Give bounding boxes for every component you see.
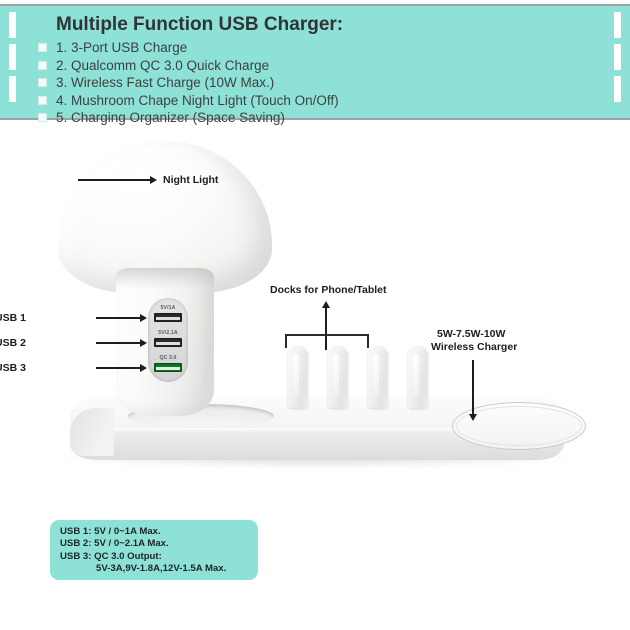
feature-item: 1. 3-Port USB Charge (38, 39, 598, 57)
dock-fin (408, 346, 428, 408)
usb2-arrowhead (140, 339, 147, 347)
checkbox-icon (38, 43, 47, 52)
night-light-arrowhead (150, 176, 157, 184)
spec-line-usb3-detail: 5V-3A,9V-1.8A,12V-1.5A Max. (60, 563, 258, 575)
checkbox-icon (38, 78, 47, 87)
spec-line-usb1: USB 1: 5V / 0~1A Max. (60, 526, 258, 538)
feature-label: 2. Qualcomm QC 3.0 Quick Charge (56, 58, 269, 73)
usb2-port (154, 338, 182, 347)
usb3-port-qc (154, 363, 182, 372)
usb2-leader-line (96, 342, 140, 344)
dock-fin (288, 346, 308, 408)
usb2-port-label: 5V/2.1A (148, 330, 188, 336)
wireless-charger-label-line1: 5W-7.5W-10W (437, 328, 505, 341)
mushroom-stem-shadow (116, 268, 214, 290)
docks-bracket (285, 334, 369, 348)
wireless-charger-leader-line (472, 360, 474, 416)
checkbox-icon (38, 96, 47, 105)
banner-tear-right (614, 6, 621, 118)
night-light-leader-line (78, 179, 150, 181)
checkbox-icon (38, 61, 47, 70)
banner-title: Multiple Function USB Charger: (56, 14, 343, 36)
spec-line-usb3: USB 3: QC 3.0 Output: (60, 551, 258, 563)
feature-label: 4. Mushroom Chape Night Light (Touch On/… (56, 93, 339, 108)
night-light-label: Night Light (163, 174, 218, 187)
feature-label: 3. Wireless Fast Charge (10W Max.) (56, 75, 274, 90)
feature-label: 1. 3-Port USB Charge (56, 40, 187, 55)
usb1-label: USB 1 (0, 312, 26, 325)
feature-banner: Multiple Function USB Charger: 1. 3-Port… (0, 4, 630, 120)
usb3-label: USB 3 (0, 362, 26, 375)
feature-item: 4. Mushroom Chape Night Light (Touch On/… (38, 92, 598, 110)
usb1-port (154, 313, 182, 322)
usb2-label: USB 2 (0, 337, 26, 350)
dock-fin (328, 346, 348, 408)
usb1-leader-line (96, 317, 140, 319)
usb1-arrowhead (140, 314, 147, 322)
spec-box: USB 1: 5V / 0~1A Max. USB 2: 5V / 0~2.1A… (50, 520, 258, 580)
wireless-charger-label-line2: Wireless Charger (431, 341, 517, 354)
usb3-port-label: QC 3.0 (148, 355, 188, 361)
docks-label: Docks for Phone/Tablet (270, 284, 387, 297)
dock-fin (368, 346, 388, 408)
usb3-arrowhead (140, 364, 147, 372)
docks-arrowhead (322, 301, 330, 308)
product-illustration: 5V/1A 5V/2.1A QC 3.0 Night Light USB 1 U… (0, 120, 630, 510)
feature-item: 3. Wireless Fast Charge (10W Max.) (38, 74, 598, 92)
feature-list: 1. 3-Port USB Charge 2. Qualcomm QC 3.0 … (38, 39, 598, 127)
charging-base-bevel (70, 408, 114, 456)
usb3-leader-line (96, 367, 140, 369)
feature-item: 2. Qualcomm QC 3.0 Quick Charge (38, 57, 598, 75)
wireless-charger-arrowhead (469, 414, 477, 421)
spec-line-usb2: USB 2: 5V / 0~2.1A Max. (60, 538, 258, 550)
banner-tear-left (9, 6, 16, 118)
usb-port-panel: 5V/1A 5V/2.1A QC 3.0 (148, 298, 188, 382)
usb1-port-label: 5V/1A (148, 305, 188, 311)
